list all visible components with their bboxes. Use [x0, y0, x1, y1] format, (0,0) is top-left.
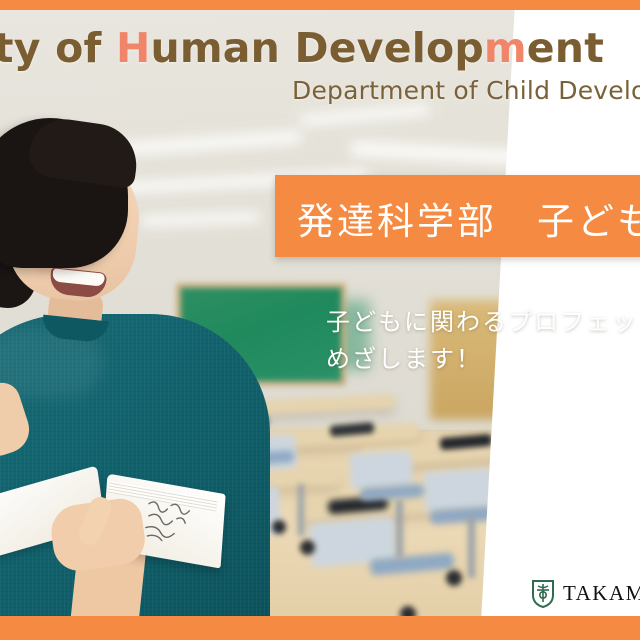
student-photo-subject [0, 118, 274, 628]
shield-crest-icon [530, 578, 556, 608]
teeth [52, 268, 105, 286]
headline-highlight-m: m [484, 24, 527, 72]
tagline: 子どもに関わるプロフェッ めざします！ [326, 304, 640, 378]
headline: ty of Human Development [0, 24, 604, 72]
department-banner: 発達科学部 子ども [275, 175, 640, 257]
headline-highlight-h: H [116, 24, 151, 72]
chair-wheel [446, 570, 462, 586]
bottom-accent-bar [0, 616, 640, 640]
tagline-line-2: めざします！ [326, 341, 640, 378]
university-logo-text: TAKAM [563, 581, 640, 606]
headline-part3: ent [527, 24, 604, 72]
classroom-chair [349, 450, 413, 489]
top-accent-bar [0, 0, 640, 10]
desk-leg [298, 484, 304, 536]
university-logo[interactable]: TAKAM [530, 578, 640, 608]
department-banner-text: 発達科学部 子ども [297, 191, 640, 245]
headline-part1: ty of [0, 24, 116, 72]
chair-wheel [272, 520, 286, 534]
headline-part2: uman Develop [150, 24, 483, 72]
desk-leg [396, 500, 403, 558]
desk-leg [468, 516, 475, 578]
poster-root: ty of Human Development Department of Ch… [0, 0, 640, 640]
sub-headline: Department of Child Develo [292, 76, 640, 105]
tagline-line-1: 子どもに関わるプロフェッ [326, 308, 638, 336]
chair-wheel [300, 540, 315, 555]
